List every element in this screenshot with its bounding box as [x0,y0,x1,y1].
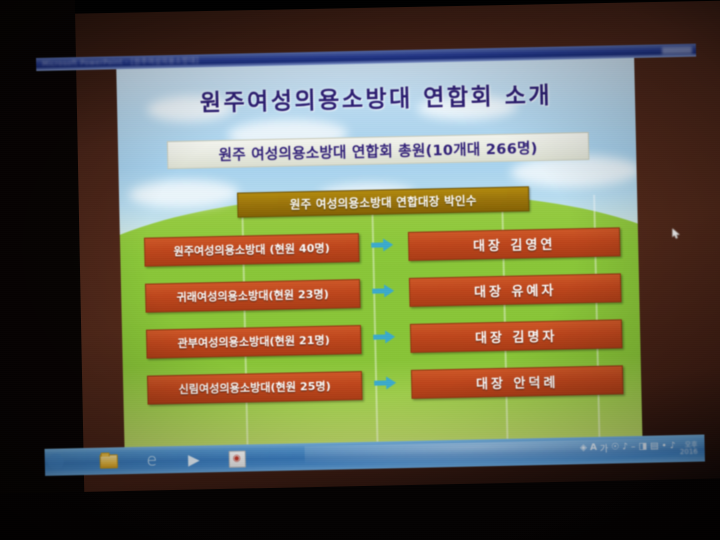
brigade-label: 원주여성의용소방대 (현원 40명) [173,240,330,259]
note-icon[interactable]: ♪ [622,442,628,452]
brigade-label: 관부여성의용소방대(현원 21명) [177,332,330,351]
file-explorer-icon[interactable] [100,452,118,470]
total-membership-text: 원주 여성의용소방대 연합회 총원(10개대 266명) [218,137,537,165]
arrow-right-icon [374,376,396,389]
app-glyph-letter: ◉ [228,450,245,467]
smiley-icon[interactable]: ☉ [611,442,619,452]
arrow-right-icon [372,284,394,297]
internet-explorer-icon[interactable]: e [143,451,161,469]
volume-icon[interactable]: ♪ [670,441,676,451]
captain-label: 대장 유예자 [474,279,557,300]
window-title-text: Microsoft PowerPoint - [원주여성의용소방대] [42,55,199,68]
mouse-pointer [672,224,681,235]
brigade-box: 귀래여성의용소방대(현원 23명) [145,278,361,312]
arrow-right-icon [373,330,395,343]
federation-chief-text: 원주 여성의용소방대 연합대장 박인수 [290,192,477,212]
app-icon[interactable]: ◉ [228,450,246,468]
ime-mode-icon[interactable]: 가 [600,441,609,454]
cloud-icon [129,179,240,209]
brigade-label: 신림여성의용소방대(현원 25명) [178,378,331,397]
brigade-box: 관부여성의용소방대(현원 21명) [146,324,362,358]
arrow-right-icon [371,238,393,251]
system-tray[interactable]: ◈ A 가 ☉ ♪ – ◨ ▤ • ♪ 오후 2016 [580,439,701,456]
dot-icon[interactable]: • [661,441,667,451]
ime-indicator[interactable]: A [590,443,597,453]
dash-icon[interactable]: – [631,442,636,452]
slide-hill-graphic [116,185,642,447]
captain-label: 대장 안덕례 [476,371,559,392]
captain-box: 대장 유예자 [409,273,622,307]
captain-box: 대장 안덕례 [411,365,624,399]
projected-desktop: Microsoft PowerPoint - [원주여성의용소방대] 원주여성의… [36,44,705,478]
brigade-box: 신림여성의용소방대(현원 25명) [147,370,363,404]
network-icon[interactable]: ◨ [638,442,647,452]
clock-date[interactable]: 2016 [680,448,698,457]
captain-label: 대장 김명자 [475,325,558,346]
flag-icon[interactable]: ◈ [580,443,587,453]
presentation-slide: 원주여성의용소방대 연합회 소개 원주 여성의용소방대 연합회 총원(10개대 … [116,58,642,447]
captain-box: 대장 김영연 [408,227,621,261]
window-control-buttons[interactable] [662,47,692,55]
captain-box: 대장 김명자 [410,319,623,353]
captain-label: 대장 김영연 [473,233,556,254]
brigade-box: 원주여성의용소방대 (현원 40명) [144,232,360,266]
battery-icon[interactable]: ▤ [650,442,659,452]
projected-slide-photo: Microsoft PowerPoint - [원주여성의용소방대] 원주여성의… [0,0,720,540]
media-player-icon[interactable]: ▶ [185,450,203,468]
slide-title: 원주여성의용소방대 연합회 소개 [117,74,636,119]
brigade-label: 귀래여성의용소방대(현원 23명) [176,286,329,305]
start-button[interactable] [47,452,65,470]
